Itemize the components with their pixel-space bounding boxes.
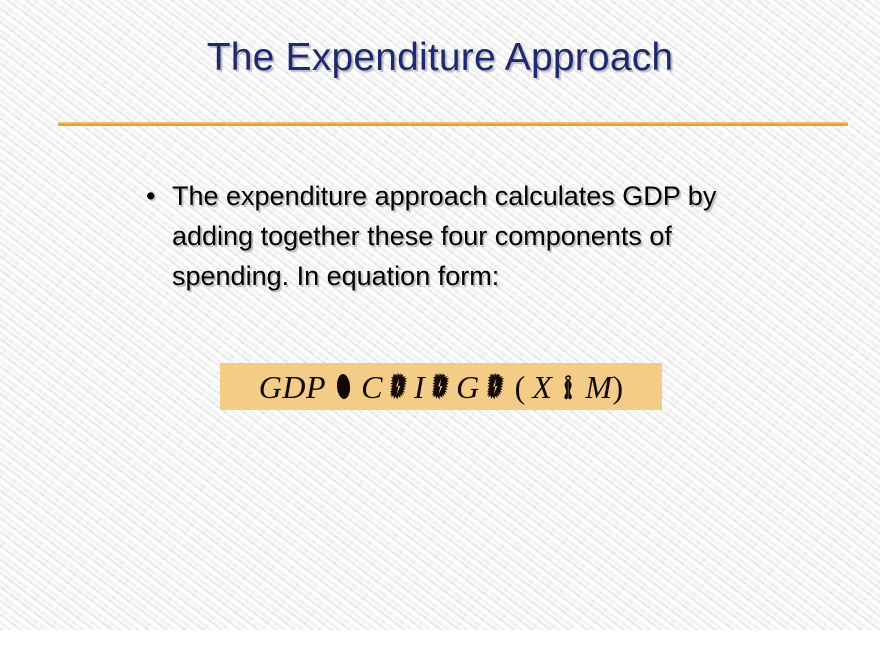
list-item: • The expenditure approach calculates GD… xyxy=(146,176,786,296)
equation-close-paren: ) xyxy=(613,371,624,403)
equation-formula: GDP C I G xyxy=(259,371,623,403)
equation-term-i: I xyxy=(414,371,425,403)
bullet-list: • The expenditure approach calculates GD… xyxy=(146,176,786,296)
footer-bar: © 2002 Prentice Hall Business Publishing… xyxy=(0,630,880,660)
plus-starburst-glyph xyxy=(432,373,449,400)
minus-ribbon-glyph xyxy=(563,373,574,400)
equals-blob-glyph xyxy=(336,374,351,400)
equation-term-x: X xyxy=(532,371,552,403)
slide-background-texture xyxy=(0,0,880,660)
equation-term-gdp: GDP xyxy=(259,371,326,403)
title-divider-rule xyxy=(58,122,848,126)
bullet-item-label: The expenditure approach calculates GDP … xyxy=(172,176,786,296)
bullet-marker-icon: • xyxy=(146,176,172,216)
equation-term-g: G xyxy=(456,371,480,403)
equation-open-paren: ( xyxy=(515,371,526,403)
page-title: The Expenditure Approach xyxy=(0,36,880,80)
plus-starburst-glyph xyxy=(487,373,504,400)
slide: The Expenditure Approach • The expenditu… xyxy=(0,0,880,660)
equation-term-m: M xyxy=(585,371,612,403)
plus-starburst-glyph xyxy=(390,373,407,400)
equation-term-c: C xyxy=(361,371,383,403)
equation-callout-box: GDP C I G xyxy=(220,363,662,410)
